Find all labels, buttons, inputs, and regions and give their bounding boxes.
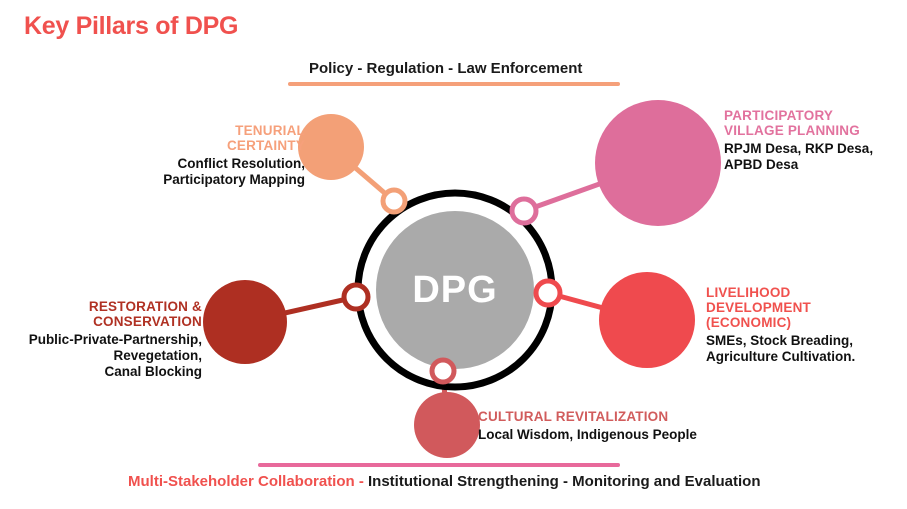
label-participatory-caption: PARTICIPATORY VILLAGE PLANNING (724, 108, 904, 138)
bubble-restoration (203, 280, 287, 364)
label-tenurial-description: Conflict Resolution, Participatory Mappi… (30, 156, 305, 188)
label-cultural-description: Local Wisdom, Indigenous People (478, 427, 778, 443)
label-livelihood-caption: LIVELIHOOD DEVELOPMENT (ECONOMIC) (706, 285, 904, 330)
bottom-banner-rest: Institutional Strengthening - Monitoring… (364, 473, 761, 490)
label-cultural-revitalization: CULTURAL REVITALIZATION Local Wisdom, In… (478, 409, 778, 443)
label-tenurial-caption: TENURIAL CERTAINTY (30, 123, 305, 153)
label-restoration-conservation: RESTORATION & CONSERVATION Public-Privat… (2, 299, 202, 380)
page-title: Key Pillars of DPG (24, 12, 238, 41)
node-restoration (344, 285, 368, 309)
connector-participatory (524, 163, 658, 211)
bubble-participatory (595, 100, 721, 226)
center-ring (358, 193, 552, 387)
label-tenurial-certainty: TENURIAL CERTAINTY Conflict Resolution, … (30, 123, 305, 188)
bubble-livelihood (599, 272, 695, 368)
node-livelihood (536, 281, 560, 305)
connector-livelihood (548, 293, 647, 320)
center-disc (376, 211, 534, 369)
node-cultural (432, 360, 454, 382)
label-restoration-description: Public-Private-Partnership, Revegetation… (2, 332, 202, 380)
top-banner-text: Policy - Regulation - Law Enforcement (309, 60, 582, 77)
connector-restoration (245, 297, 356, 322)
label-cultural-caption: CULTURAL REVITALIZATION (478, 409, 778, 424)
connector-cultural (443, 371, 447, 425)
bottom-banner-underline (258, 463, 620, 467)
node-tenurial (383, 190, 405, 212)
top-banner-underline (288, 82, 620, 86)
label-restoration-caption: RESTORATION & CONSERVATION (2, 299, 202, 329)
label-livelihood-development: LIVELIHOOD DEVELOPMENT (ECONOMIC) SMEs, … (706, 285, 904, 365)
bottom-banner-accent: Multi-Stakeholder Collaboration - (128, 473, 364, 490)
diagram-canvas: Key Pillars of DPG Policy - Regulation -… (0, 0, 907, 509)
label-participatory-description: RPJM Desa, RKP Desa, APBD Desa (724, 141, 904, 173)
bubble-tenurial (298, 114, 364, 180)
bottom-banner-text: Multi-Stakeholder Collaboration - Instit… (128, 473, 761, 490)
node-participatory (512, 199, 536, 223)
label-participatory-village-planning: PARTICIPATORY VILLAGE PLANNING RPJM Desa… (724, 108, 904, 173)
connector-tenurial (331, 147, 394, 201)
label-livelihood-description: SMEs, Stock Breading, Agriculture Cultiv… (706, 333, 904, 365)
center-label: DPG (412, 269, 497, 311)
bubble-cultural (414, 392, 480, 458)
